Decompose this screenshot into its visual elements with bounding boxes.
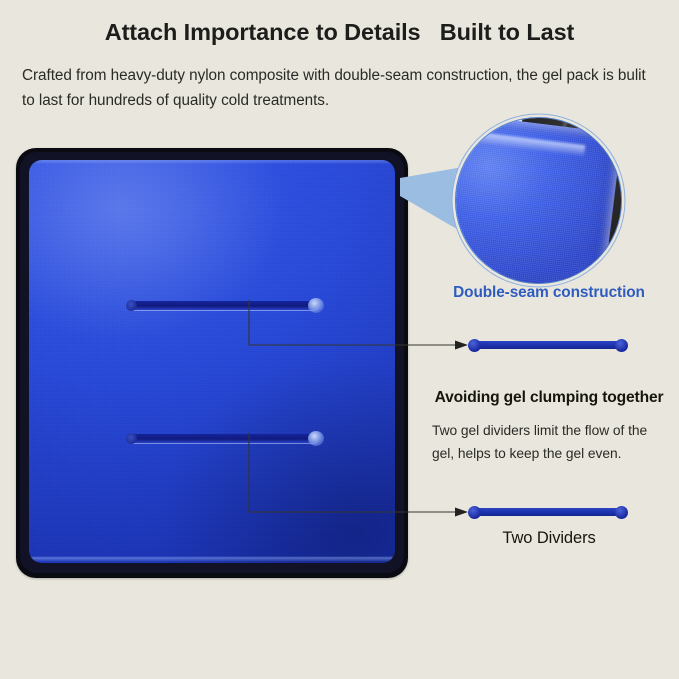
seam-right-knob (308, 298, 324, 313)
arrow-right-icon-bottom (455, 508, 468, 517)
divider-bar-icon-bottom (472, 508, 624, 516)
product-blue-face (29, 160, 395, 563)
avoiding-clumping-title: Avoiding gel clumping together (419, 389, 679, 407)
divider-bar-icon-top (472, 341, 624, 349)
page-title: Attach Importance to Details Built to La… (0, 19, 679, 46)
arrow-right-icon-top (455, 341, 468, 350)
seam-right-knob (308, 431, 324, 446)
bar-knob-left (468, 506, 481, 519)
double-seam-label: Double-seam construction (419, 284, 679, 302)
gel-divider-seam-bottom (128, 434, 318, 443)
gel-divider-seam-top (128, 301, 318, 310)
face-bottom-highlight (29, 557, 395, 562)
product-photo (16, 148, 408, 578)
face-top-highlight (29, 160, 395, 164)
product-nylon-border (20, 152, 404, 573)
infographic-canvas: Attach Importance to Details Built to La… (0, 0, 679, 679)
bar-knob-left (468, 339, 481, 352)
magnifier-zoom-icon (455, 117, 622, 284)
seam-left-cap (126, 300, 137, 311)
fabric-sheen (29, 160, 395, 563)
bar-knob-right (615, 506, 628, 519)
two-dividers-title: Two Dividers (419, 529, 679, 548)
intro-paragraph: Crafted from heavy-duty nylon composite … (22, 63, 662, 113)
bar-knob-right (615, 339, 628, 352)
seam-left-cap (126, 433, 137, 444)
avoiding-clumping-body: Two gel dividers limit the flow of the g… (432, 419, 672, 465)
